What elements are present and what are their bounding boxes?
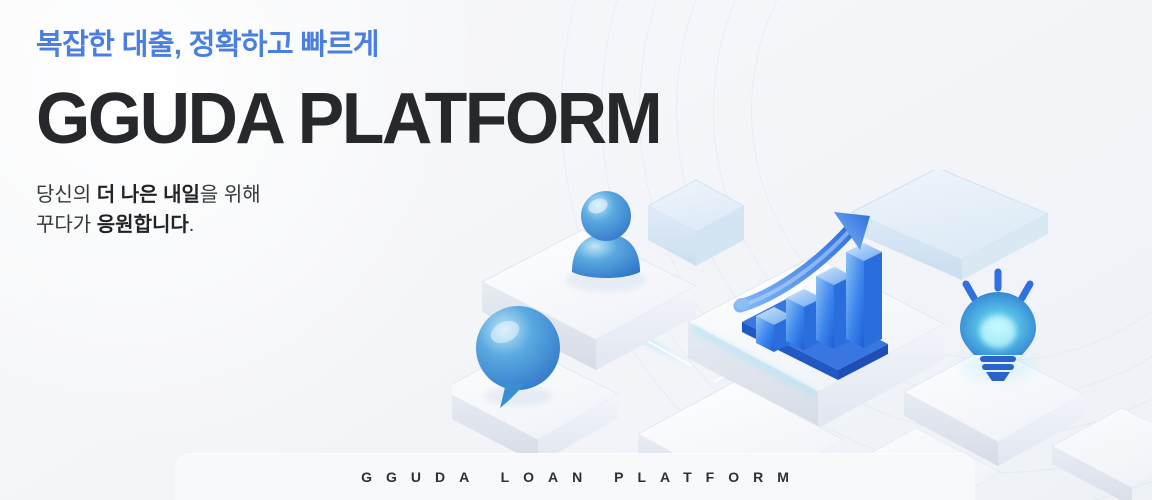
subcopy-line1-part1: 당신의 xyxy=(36,184,97,206)
page-title: GGUDA PLATFORM xyxy=(36,85,637,154)
subcopy-line-1: 당신의 더 나은 내일을 위해 xyxy=(36,180,656,210)
hero-tagline: 복잡한 대출, 정확하고 빠르게 xyxy=(36,28,656,63)
speech-bubble-icon xyxy=(476,306,560,408)
subcopy-line2-part3: . xyxy=(189,214,195,236)
platform-slab-icon xyxy=(452,346,618,464)
bar-chart-growth-icon xyxy=(735,212,888,380)
hero-banner: 복잡한 대출, 정확하고 빠르게 GGUDA PLATFORM 당신의 더 나은… xyxy=(0,0,1152,500)
platform-slab-icon xyxy=(648,170,1048,280)
subcopy-line-2: 꾸다가 응원합니다. xyxy=(36,210,656,240)
ribbon-label: GGUDA LOAN PLATFORM xyxy=(347,469,803,485)
subcopy-line1-part3: 을 위해 xyxy=(200,184,261,206)
subcopy-line2-emphasis: 응원합니다 xyxy=(97,214,189,236)
subcopy-line1-emphasis: 더 나은 내일 xyxy=(97,184,200,206)
platform-slab-icon xyxy=(904,346,1084,466)
platform-slab-icon xyxy=(482,230,696,370)
platform-slab-icon xyxy=(688,256,944,428)
connector-line xyxy=(592,310,1012,420)
hero-subcopy: 당신의 더 나은 내일을 위해 꾸다가 응원합니다. xyxy=(36,180,656,240)
subcopy-line2-part1: 꾸다가 xyxy=(36,214,97,236)
hero-copy: 복잡한 대출, 정확하고 빠르게 GGUDA PLATFORM 당신의 더 나은… xyxy=(36,28,656,240)
lightbulb-icon xyxy=(960,272,1036,381)
bottom-ribbon-card: GGUDA LOAN PLATFORM xyxy=(175,454,975,500)
